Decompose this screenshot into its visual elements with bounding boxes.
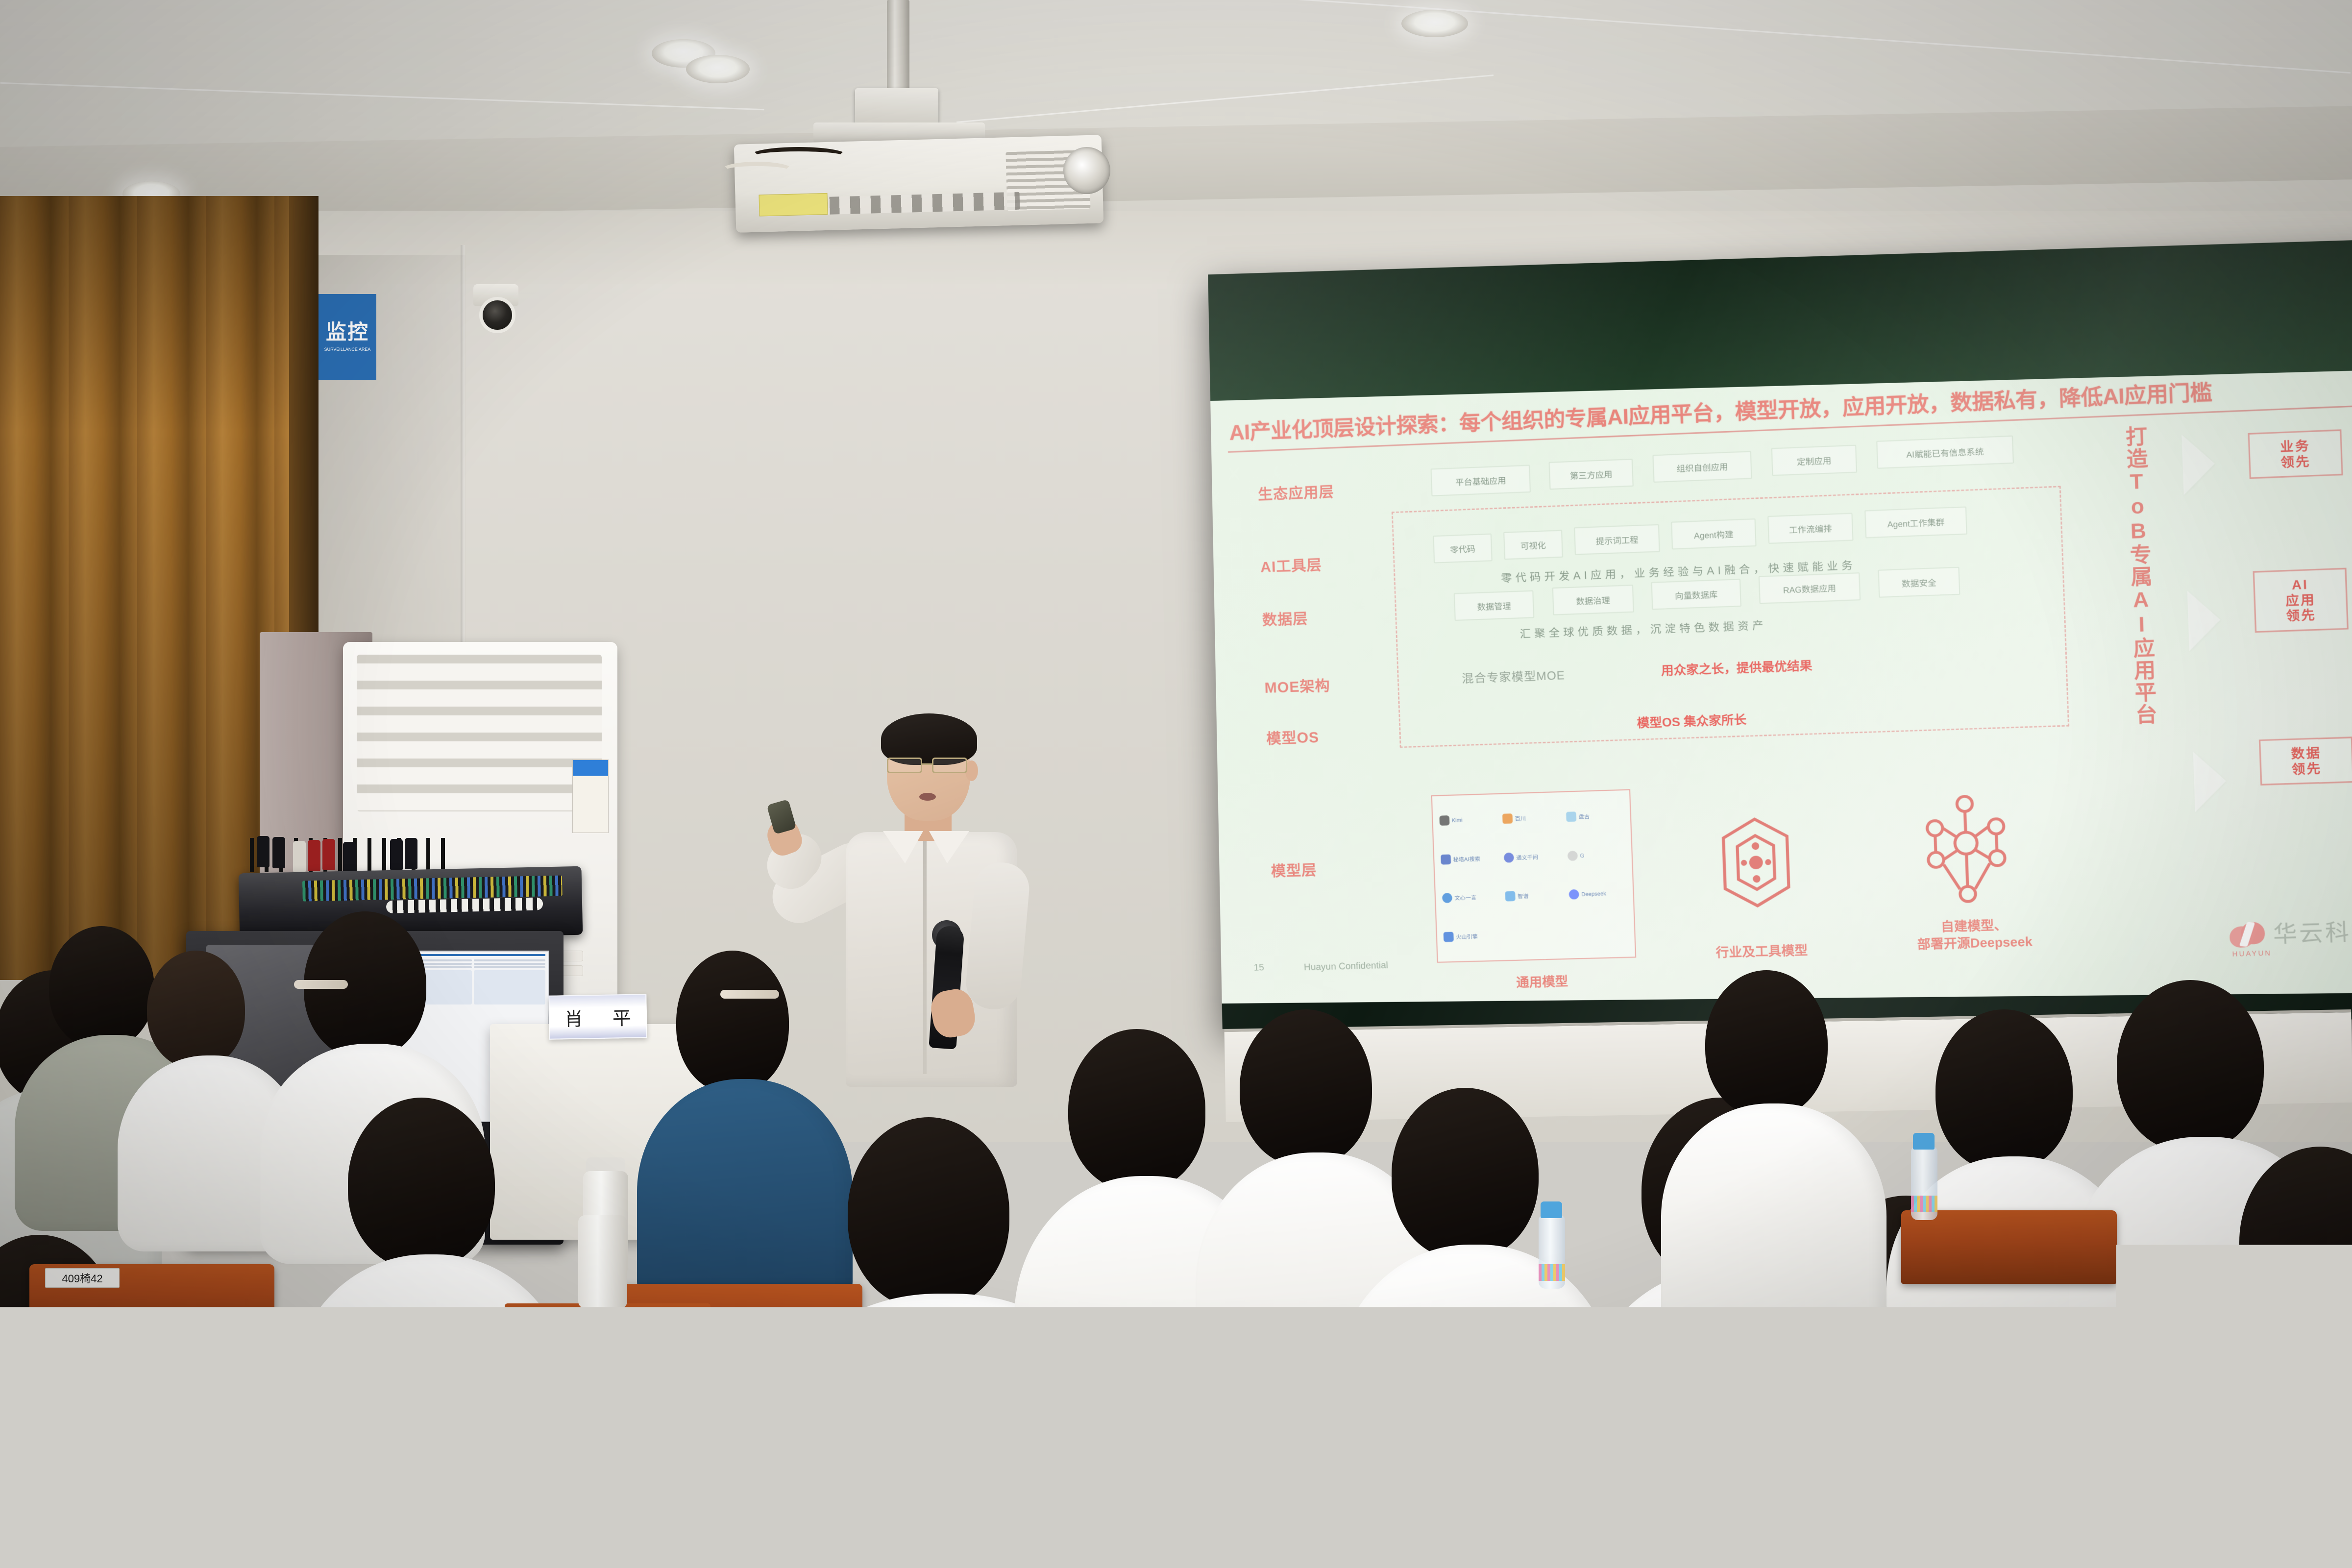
auditorium-chair bbox=[1901, 1210, 2117, 1284]
white-cup bbox=[578, 1215, 627, 1308]
seat-tag: 409椅 bbox=[1517, 1343, 1581, 1363]
audience: DISTANCE bbox=[0, 0, 2352, 1568]
water-bottle-cap bbox=[1913, 1133, 1935, 1150]
audience-head bbox=[1935, 1009, 2073, 1171]
audience-head bbox=[2117, 980, 2264, 1151]
lecture-hall-photo: 监控 SURVEILLANCE AREA AI产业化顶层设计探索：每个组织的专属… bbox=[0, 0, 2352, 1568]
seat-tag: 409椅41 bbox=[176, 1509, 251, 1529]
hair-clip bbox=[720, 990, 779, 999]
seat-tag: 409椅43 bbox=[657, 1406, 735, 1427]
audience-head bbox=[1705, 970, 1828, 1117]
water-bottle-label bbox=[1911, 1196, 1937, 1212]
audience-head bbox=[848, 1117, 1009, 1308]
chair-seat-cushion bbox=[49, 1318, 255, 1372]
audience-head bbox=[1392, 1088, 1539, 1259]
chair-writing-ledge bbox=[505, 1303, 710, 1362]
audience-head bbox=[2029, 1382, 2205, 1568]
water-bottle-cap bbox=[1541, 1201, 1562, 1218]
auditorium-chair bbox=[750, 1460, 1053, 1548]
audience-torso bbox=[1661, 1103, 1886, 1339]
audience-head bbox=[49, 926, 154, 1049]
audience-torso bbox=[289, 1254, 573, 1558]
audience-head bbox=[147, 951, 245, 1068]
audience-head bbox=[1068, 1029, 1205, 1191]
water-bottle-label bbox=[1539, 1264, 1565, 1281]
audience-head bbox=[1240, 1009, 1372, 1166]
audience-head bbox=[676, 951, 789, 1093]
seat-tag: 409椅42 bbox=[45, 1268, 120, 1288]
auditorium-chair bbox=[0, 1431, 206, 1504]
audience-head bbox=[568, 1411, 735, 1568]
audience-torso bbox=[637, 1079, 853, 1314]
audience-head bbox=[1318, 1352, 1504, 1563]
audience-head bbox=[348, 1098, 495, 1269]
hair-clip bbox=[294, 980, 348, 989]
